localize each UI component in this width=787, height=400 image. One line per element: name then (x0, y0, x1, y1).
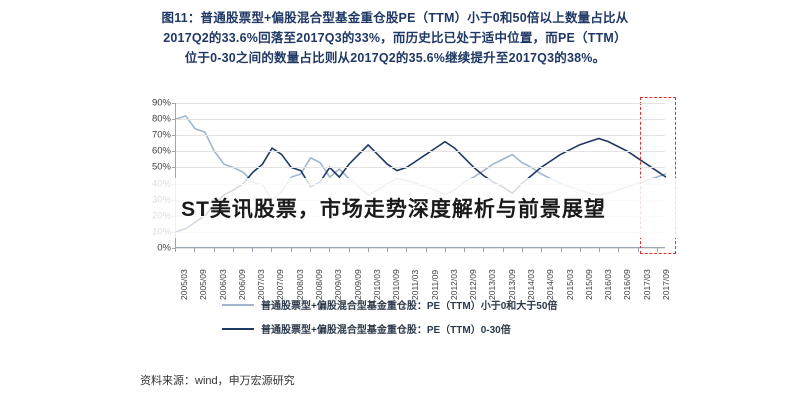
legend-label: 普通股票型+偏股混合型基金重仓股：PE（TTM）小于0和大于50倍 (261, 297, 557, 312)
gridline (176, 167, 665, 168)
x-axis-tick: 2011/03 (410, 270, 420, 300)
chart-title: 图11：普通股票型+偏股混合型基金重仓股PE（TTM）小于0和50倍以上数量占比… (160, 8, 630, 68)
x-axis-tick: 2017/09 (661, 269, 671, 300)
x-tick-mark (252, 248, 253, 252)
x-axis-tick: 2005/09 (198, 269, 208, 300)
x-tick-mark (329, 248, 330, 252)
x-tick-mark (561, 248, 562, 252)
x-tick-mark (271, 248, 272, 252)
source-note: 资料来源：wind，申万宏源研究 (140, 372, 295, 388)
overlay-banner-text: ST美讯股票，市场走势深度解析与前景展望 (181, 193, 606, 223)
x-tick-mark (580, 248, 581, 252)
x-tick-mark (406, 248, 407, 252)
x-axis-tick: 2015/09 (584, 269, 594, 300)
y-tick-mark (172, 103, 176, 104)
x-axis-tick: 2006/09 (237, 269, 247, 300)
y-tick-mark (172, 151, 176, 152)
x-tick-mark (657, 248, 658, 252)
x-axis-tick: 2008/09 (314, 269, 324, 300)
x-axis-tick: 2007/09 (275, 269, 285, 300)
y-axis-tick: 50% (152, 162, 171, 173)
x-tick-mark (464, 248, 465, 252)
x-tick-mark (233, 248, 234, 252)
gridline (176, 119, 665, 120)
x-tick-mark (310, 248, 311, 252)
y-tick-mark (172, 167, 176, 168)
x-axis-tick: 2015/03 (565, 269, 575, 300)
y-axis-tick: 70% (152, 130, 171, 141)
gridline (176, 103, 665, 104)
x-axis-tick: 2010/09 (391, 269, 401, 300)
overlay-banner: ST美讯股票，市场走势深度解析与前景展望 (0, 178, 787, 238)
x-axis-tick: 2010/03 (372, 269, 382, 300)
x-tick-mark (445, 248, 446, 252)
x-tick-mark (175, 248, 176, 252)
legend-item[interactable]: 普通股票型+偏股混合型基金重仓股：PE（TTM）0-30倍 (222, 321, 652, 336)
legend-swatch (222, 304, 254, 306)
x-tick-mark (214, 248, 215, 252)
x-axis-tick: 2017/03 (642, 269, 652, 300)
y-tick-mark (172, 119, 176, 120)
x-axis-tick: 2011/09 (430, 270, 440, 300)
y-axis-tick: 0% (157, 243, 171, 254)
x-axis-tick: 2005/03 (179, 269, 189, 300)
x-axis-tick: 2009/09 (353, 269, 363, 300)
x-tick-mark (618, 248, 619, 252)
x-tick-mark (541, 248, 542, 252)
x-axis-tick: 2016/09 (622, 269, 632, 300)
x-axis-tick: 2013/09 (507, 269, 517, 300)
gridline (176, 151, 665, 152)
x-tick-mark (599, 248, 600, 252)
y-tick-mark (172, 135, 176, 136)
x-tick-mark (426, 248, 427, 252)
x-tick-mark (349, 248, 350, 252)
x-tick-mark (368, 248, 369, 252)
x-tick-mark (194, 248, 195, 252)
x-tick-mark (291, 248, 292, 252)
gridline (176, 135, 665, 136)
y-axis-tick: 80% (152, 114, 171, 125)
y-axis-tick: 60% (152, 146, 171, 157)
legend-item[interactable]: 普通股票型+偏股混合型基金重仓股：PE（TTM）小于0和大于50倍 (222, 297, 652, 312)
y-axis-tick: 90% (152, 98, 171, 109)
x-axis-tick: 2009/03 (333, 269, 343, 300)
x-axis-tick: 2016/03 (603, 269, 613, 300)
x-axis-tick: 2012/09 (468, 269, 478, 300)
x-tick-mark (483, 248, 484, 252)
x-tick-mark (522, 248, 523, 252)
x-axis-tick: 2006/03 (218, 269, 228, 300)
legend-swatch (222, 328, 254, 330)
x-tick-mark (638, 248, 639, 252)
x-axis-tick: 2013/03 (487, 269, 497, 300)
chart-legend: 普通股票型+偏股混合型基金重仓股：PE（TTM）小于0和大于50倍普通股票型+偏… (222, 297, 652, 345)
x-tick-mark (503, 248, 504, 252)
x-tick-mark (387, 248, 388, 252)
legend-label: 普通股票型+偏股混合型基金重仓股：PE（TTM）0-30倍 (261, 321, 511, 336)
x-axis-tick: 2014/03 (526, 269, 536, 300)
x-axis-tick: 2008/03 (295, 269, 305, 300)
x-axis-tick: 2012/03 (449, 269, 459, 300)
x-axis-tick: 2014/09 (545, 269, 555, 300)
x-axis-tick: 2007/03 (256, 269, 266, 300)
